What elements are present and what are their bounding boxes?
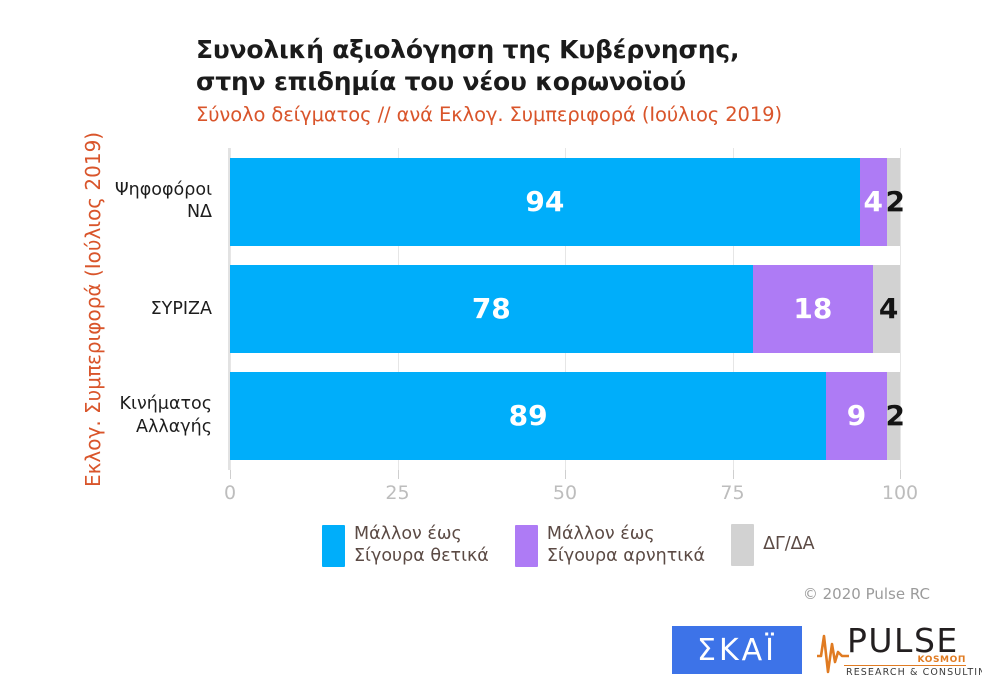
legend-label: ΔΓ/ΔΑ: [763, 534, 815, 556]
x-tick-mark: [230, 470, 231, 479]
x-tick-label: 75: [720, 482, 744, 504]
y-tick-label: Κινήματος Αλλαγής: [32, 393, 212, 438]
bar-row[interactable]: 8992: [230, 372, 900, 460]
x-tick-label: 0: [224, 482, 236, 504]
bar-segment[interactable]: 9: [826, 372, 886, 460]
y-tick-labels: Ψηφοφόροι ΝΔΣΥΡΙΖΑΚινήματος Αλλαγής: [22, 148, 212, 470]
legend-swatch: [731, 524, 754, 566]
legend-item[interactable]: Μάλλον έως Σίγουρα αρνητικά: [515, 524, 705, 568]
x-axis: 0255075100: [230, 470, 900, 510]
pulse-logo-tagline: RESEARCH & CONSULTING: [846, 667, 982, 678]
copyright-text: © 2020 Pulse RC: [803, 585, 930, 603]
bar-row[interactable]: 78184: [230, 265, 900, 353]
legend-label: Μάλλον έως Σίγουρα θετικά: [354, 524, 489, 568]
title-block: Συνολική αξιολόγηση της Κυβέρνησης, στην…: [196, 34, 896, 126]
bar-segment[interactable]: 94: [230, 158, 860, 246]
bar-segment[interactable]: 4: [873, 265, 900, 353]
bar-row[interactable]: 9442: [230, 158, 900, 246]
bar-value-label: 2: [886, 402, 905, 430]
logos-row: ΣΚΑΪ PULSE KOSMOΠ RESEARCH & CONSULTING: [672, 622, 968, 678]
x-tick-label: 50: [553, 482, 577, 504]
bar-value-label: 18: [793, 295, 832, 323]
bar-value-label: 94: [525, 188, 564, 216]
bar-value-label: 78: [472, 295, 511, 323]
y-tick-label: Ψηφοφόροι ΝΔ: [32, 179, 212, 224]
x-tick-mark: [733, 470, 734, 479]
bar-segment[interactable]: 18: [753, 265, 874, 353]
bar-segment[interactable]: 78: [230, 265, 753, 353]
pulse-waveform-icon: [816, 626, 850, 676]
bar-value-label: 89: [509, 402, 548, 430]
x-tick-label: 25: [385, 482, 409, 504]
gridline: [900, 148, 901, 470]
bar-value-label: 9: [847, 402, 866, 430]
bar-segment[interactable]: 4: [860, 158, 887, 246]
legend-swatch: [322, 525, 345, 567]
bar-value-label: 4: [879, 295, 898, 323]
pulse-logo-word: PULSE: [847, 624, 959, 657]
bar-segment[interactable]: 89: [230, 372, 826, 460]
bar-value-label: 2: [886, 188, 905, 216]
legend-item[interactable]: ΔΓ/ΔΑ: [731, 524, 815, 566]
bar-series-container: 9442781848992: [230, 148, 900, 470]
bar-segment[interactable]: 2: [887, 158, 900, 246]
x-tick-mark: [900, 470, 901, 479]
legend-label: Μάλλον έως Σίγουρα αρνητικά: [547, 524, 705, 568]
skai-logo-text: ΣΚΑΪ: [697, 633, 777, 668]
x-tick-mark: [565, 470, 566, 479]
skai-logo: ΣΚΑΪ: [672, 626, 802, 674]
chart-page: Συνολική αξιολόγηση της Κυβέρνησης, στην…: [0, 0, 982, 693]
chart-subtitle: Σύνολο δείγματος // ανά Εκλογ. Συμπεριφο…: [196, 103, 896, 126]
bar-segment[interactable]: 2: [887, 372, 900, 460]
y-tick-label: ΣΥΡΙΖΑ: [32, 298, 212, 320]
pulse-logo-rule: [844, 665, 966, 666]
page-title: Συνολική αξιολόγηση της Κυβέρνησης, στην…: [196, 34, 896, 97]
legend-item[interactable]: Μάλλον έως Σίγουρα θετικά: [322, 524, 489, 568]
x-tick-label: 100: [882, 482, 918, 504]
legend-swatch: [515, 525, 538, 567]
pulse-logo: PULSE KOSMOΠ RESEARCH & CONSULTING: [816, 622, 968, 678]
bar-value-label: 4: [863, 188, 882, 216]
x-tick-mark: [398, 470, 399, 479]
plot-area: PULSE KOSMOΠ RESEARCH & CONSULTING 94427…: [230, 148, 900, 470]
pulse-logo-kosmon: KOSMOΠ: [918, 655, 966, 665]
legend: Μάλλον έως Σίγουρα θετικάΜάλλον έως Σίγο…: [322, 524, 841, 568]
